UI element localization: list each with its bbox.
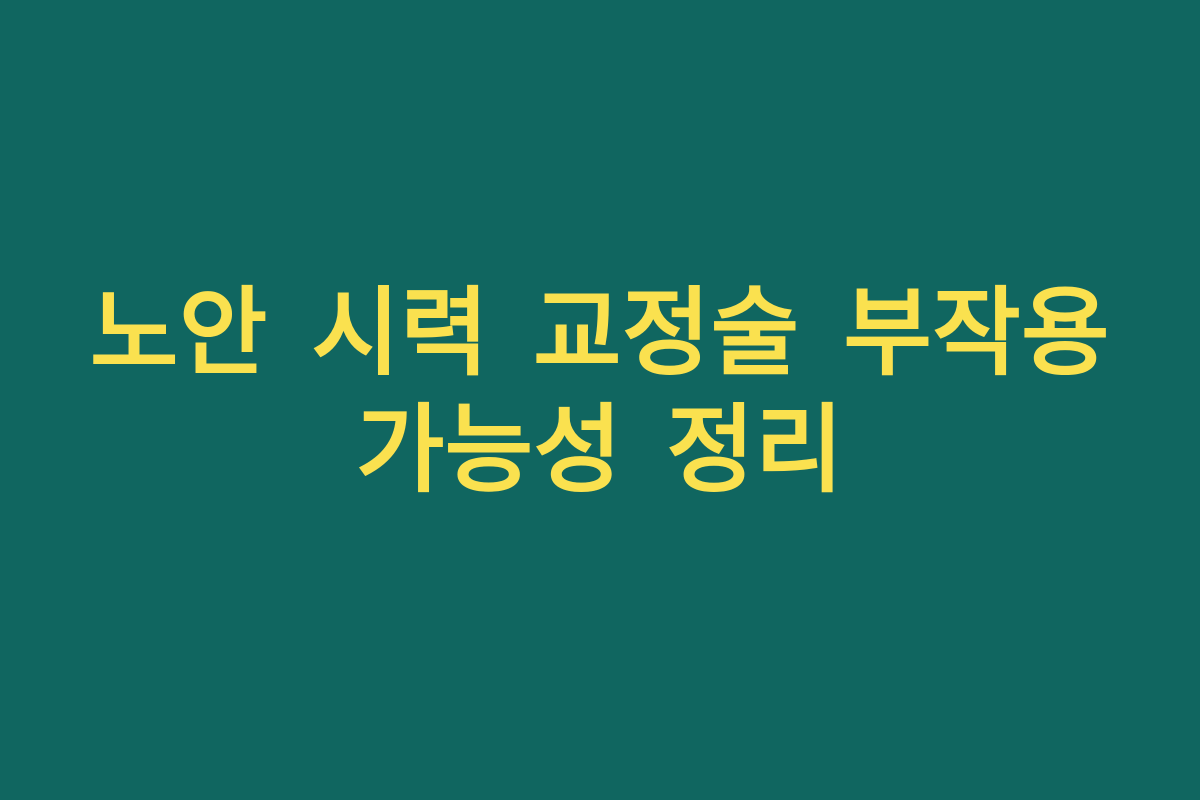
headline-line-2: 가능성 정리 xyxy=(40,392,1160,509)
thumbnail-card: 노안 시력 교정술 부작용 가능성 정리 xyxy=(0,0,1200,800)
headline-line-1: 노안 시력 교정술 부작용 xyxy=(40,275,1160,392)
headline-block: 노안 시력 교정술 부작용 가능성 정리 xyxy=(40,275,1160,509)
